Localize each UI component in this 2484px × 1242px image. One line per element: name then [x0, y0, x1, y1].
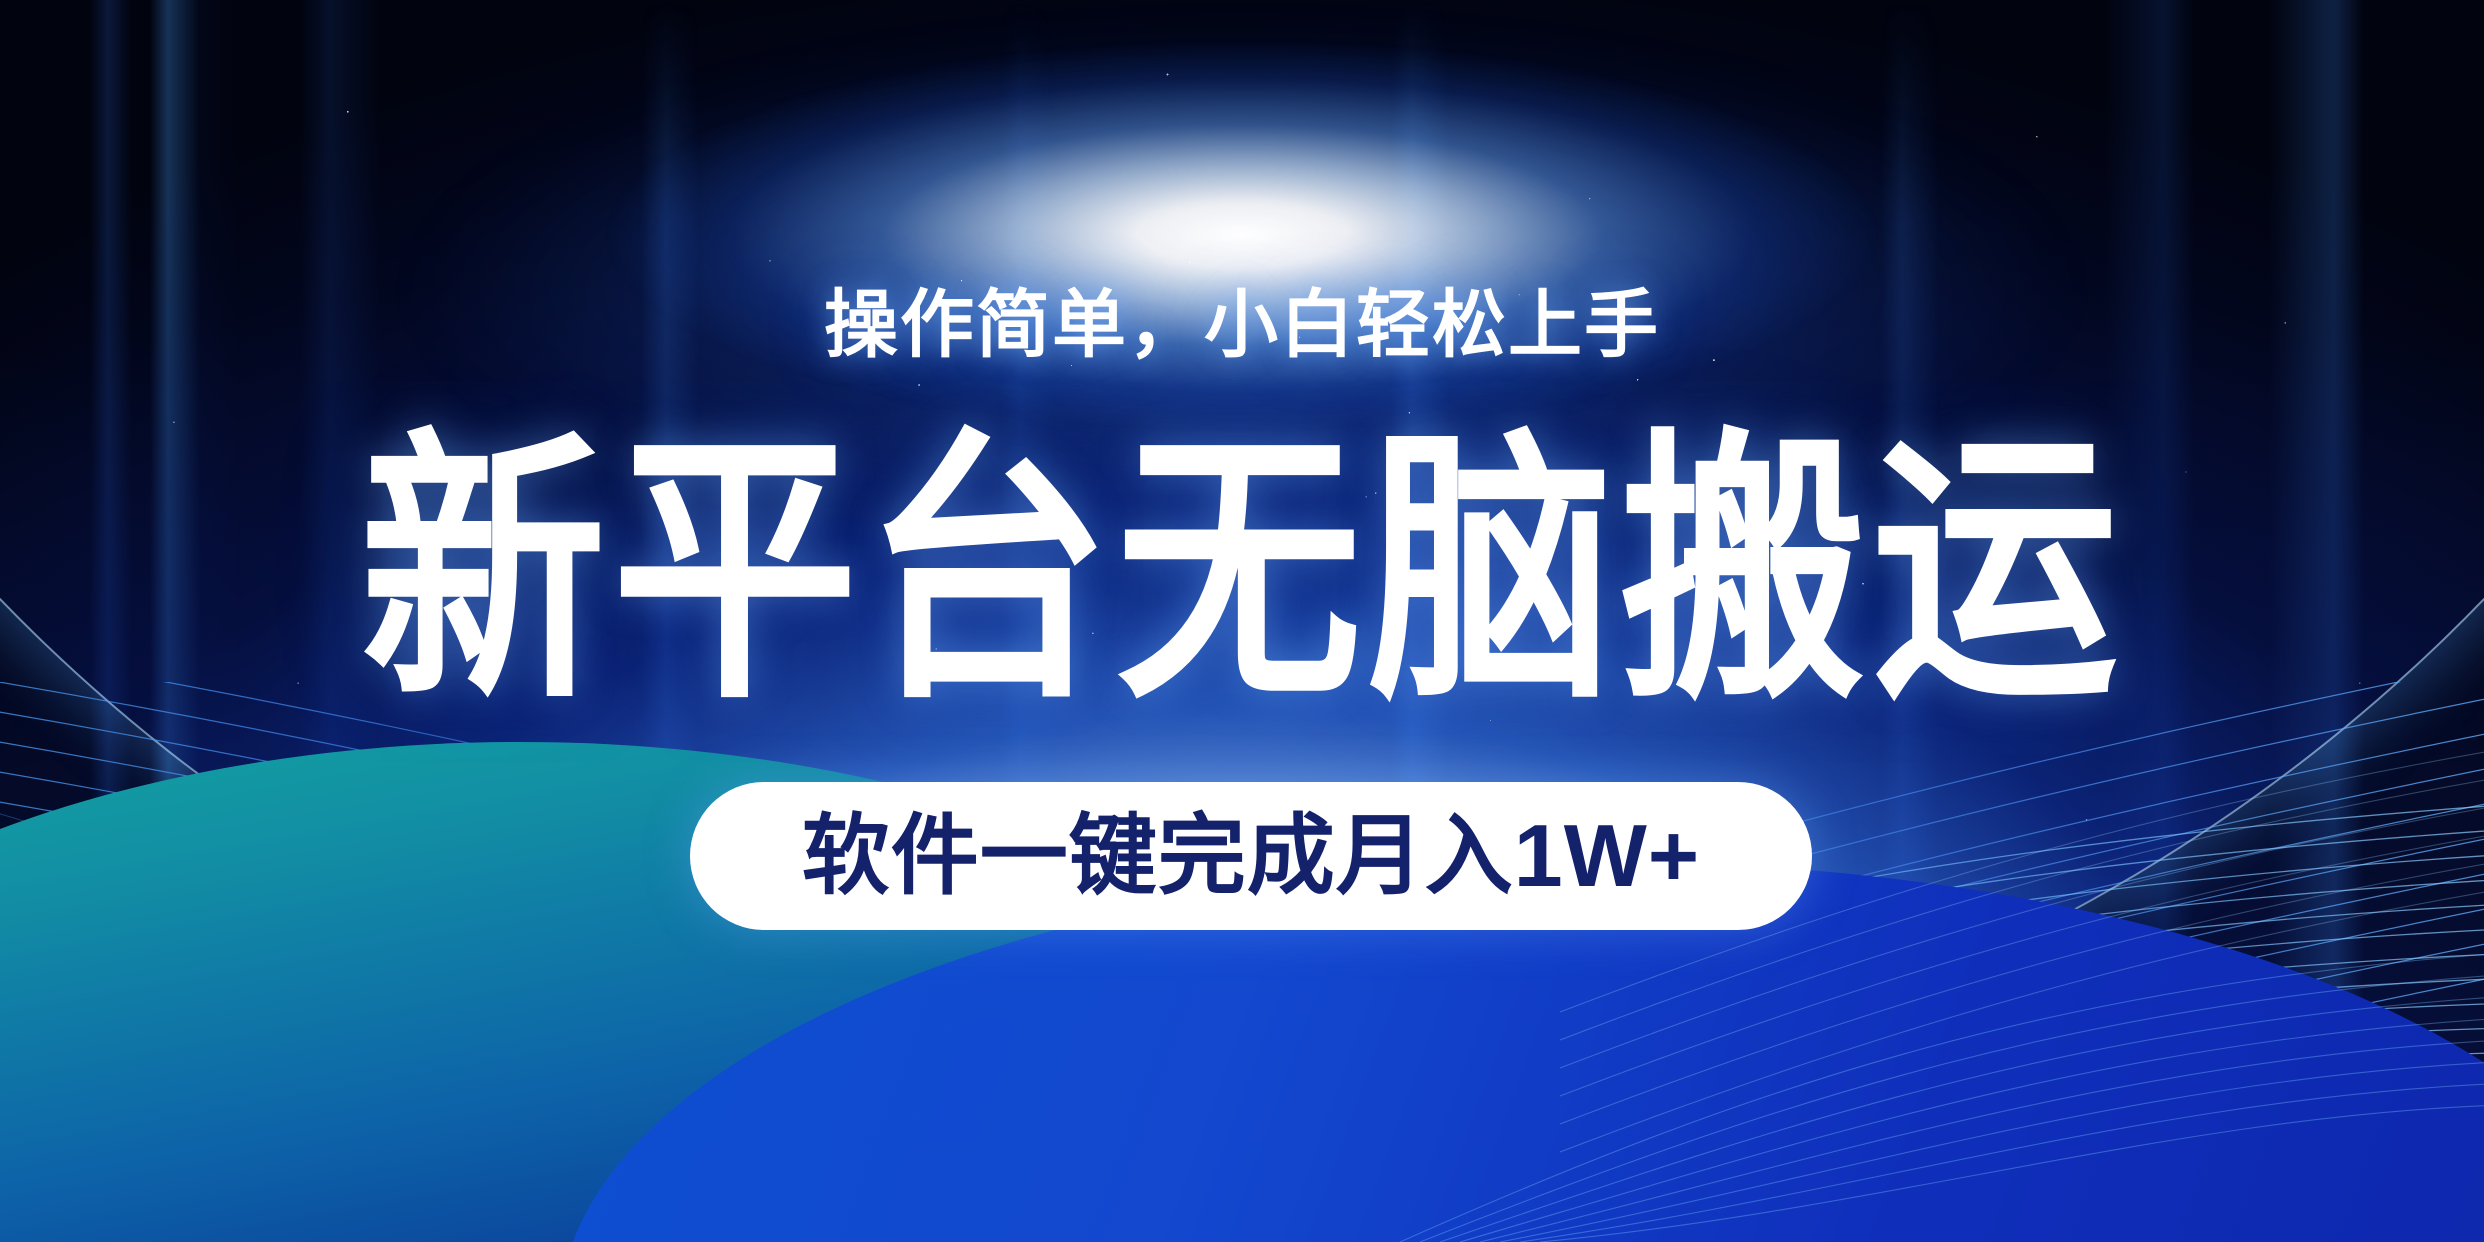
pill-label: 软件一键完成月入1W+: [802, 812, 1700, 900]
promo-poster: 操作简单，小白轻松上手 新平台无脑搬运 软件一键完成月入1W+: [0, 0, 2484, 1242]
subtitle: 操作简单，小白轻松上手: [0, 288, 2484, 362]
highlight-pill: 软件一键完成月入1W+: [690, 782, 1812, 930]
core-glow: [492, 5, 1992, 465]
page-title: 新平台无脑搬运: [0, 430, 2484, 715]
line-mesh-waves-overlay: [0, 682, 2484, 1242]
